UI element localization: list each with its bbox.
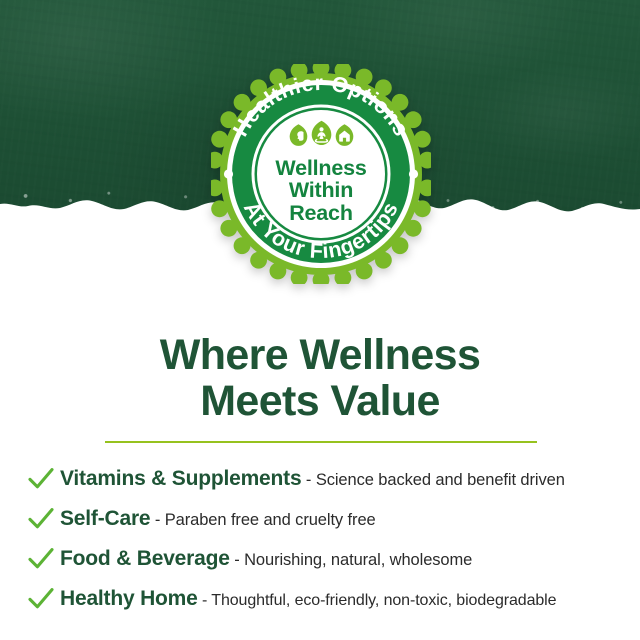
benefit-description: Nourishing, natural, wholesome	[244, 551, 472, 569]
benefit-category: Healthy Home	[60, 587, 198, 610]
list-item-text: Healthy Home - Thoughtful, eco-friendly,…	[60, 587, 556, 611]
benefits-list: Vitamins & Supplements - Science backed …	[22, 459, 640, 619]
checkmark-icon	[22, 467, 60, 491]
benefit-separator: -	[198, 592, 212, 609]
list-item: Healthy Home - Thoughtful, eco-friendly,…	[22, 579, 640, 619]
list-item-text: Self-Care - Paraben free and cruelty fre…	[60, 507, 376, 531]
headline-line-2: Meets Value	[0, 378, 640, 424]
page-title: Where Wellness Meets Value	[0, 332, 640, 424]
checkmark-icon	[22, 507, 60, 531]
promotional-poster: Healthier Options At Your Fingertips	[0, 0, 640, 640]
benefit-description: Thoughtful, eco-friendly, non-toxic, bio…	[211, 592, 556, 609]
benefit-description: Paraben free and cruelty free	[165, 511, 376, 529]
badge-bullet-dot-left	[224, 169, 233, 178]
list-item-text: Vitamins & Supplements - Science backed …	[60, 467, 565, 491]
wellness-badge-seal: Healthier Options At Your Fingertips	[211, 64, 431, 284]
benefit-separator: -	[301, 471, 315, 489]
benefit-separator: -	[230, 551, 244, 569]
checkmark-icon	[22, 547, 60, 571]
list-item: Vitamins & Supplements - Science backed …	[22, 459, 640, 499]
benefit-category: Vitamins & Supplements	[60, 467, 301, 490]
badge-bullet-dot-right	[409, 169, 418, 178]
list-item-text: Food & Beverage - Nourishing, natural, w…	[60, 547, 472, 571]
benefit-category: Self-Care	[60, 507, 150, 530]
list-item: Self-Care - Paraben free and cruelty fre…	[22, 499, 640, 539]
headline-line-1: Where Wellness	[0, 332, 640, 378]
headline-divider	[105, 441, 537, 443]
benefit-category: Food & Beverage	[60, 547, 230, 570]
benefit-description: Science backed and benefit driven	[316, 471, 565, 489]
list-item: Food & Beverage - Nourishing, natural, w…	[22, 539, 640, 579]
checkmark-icon	[22, 587, 60, 611]
benefit-separator: -	[150, 511, 164, 529]
